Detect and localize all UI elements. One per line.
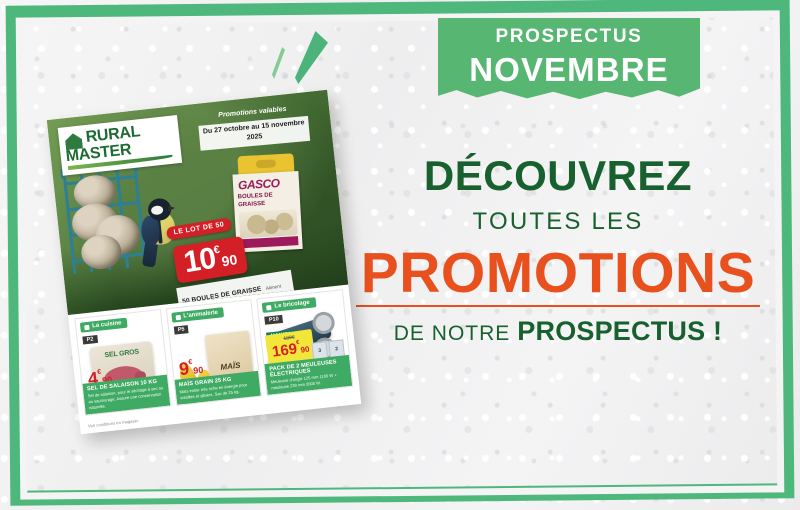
panel-page-bricolage: P10 [265, 315, 284, 325]
promo-banner: PROSPECTUS NOVEMBRE DÉCOUVREZ TOUTES LES… [0, 0, 800, 510]
banner-line-prospectus: PROSPECTUS [496, 27, 643, 46]
headline-last-line: DE NOTRE PROSPECTUS ! [352, 318, 764, 345]
product-panel-cuisine[interactable]: La cuisine P2 SEL GROS 10 kg 4€90 SEL DE… [74, 309, 171, 416]
salt-bag-top-label: SEL GROS [96, 348, 148, 361]
bird-feeder-cage [63, 169, 147, 274]
product-panel-bricolage[interactable]: Le bricolage P10 MAKITA 189€ 169€90 3 2 [257, 289, 354, 396]
headline-underline [356, 305, 760, 307]
cover-photograph: GASCO BOULES DE GRAISSE RURAL MASTER Pro… [47, 90, 349, 315]
panel-tag-cuisine: La cuisine [80, 318, 128, 333]
panel-page-cuisine: P2 [82, 335, 98, 345]
panel-price-dec-bricolage: 90 [300, 344, 310, 354]
headline-promotions-wrap: PROMOTIONS [352, 245, 764, 307]
validity-note: Promotions valables Du 27 octobre au 15 … [197, 103, 310, 151]
panel-tag-bricolage: Le bricolage [262, 297, 316, 313]
gasco-sub-label: BOULES DE GRAISSE [238, 190, 301, 210]
gasco-brand-label: GASCO [238, 176, 280, 192]
rural-master-logo: RURAL MASTER [58, 115, 182, 176]
panel-price-int-bricolage: 169 [271, 340, 298, 360]
banner-line-month: NOVEMBRE [469, 51, 669, 89]
panel-tag-animalerie: L'animalerie [171, 307, 225, 323]
hero-price-currency: € [213, 244, 221, 257]
headline-toutes-les: TOUTES LES [352, 210, 764, 234]
panel-page-animalerie: P5 [173, 325, 189, 335]
catalog-cover[interactable]: GASCO BOULES DE GRAISSE RURAL MASTER Pro… [47, 90, 361, 435]
headline-decouvrez: DÉCOUVREZ [352, 155, 764, 197]
headline-block: DÉCOUVREZ TOUTES LES PROMOTIONS DE NOTRE… [352, 155, 764, 345]
panel-price-animalerie: 9€90 [178, 358, 204, 378]
headline-de-notre: DE NOTRE [394, 322, 511, 345]
headline-prospectus: PROSPECTUS ! [517, 316, 722, 346]
prospectus-month-banner: PROSPECTUS NOVEMBRE [438, 18, 700, 100]
catalog-footnote: Voir conditions en magasin. [88, 418, 139, 429]
panel-price-dec-animalerie: 90 [193, 364, 204, 375]
headline-promotions: PROMOTIONS [352, 245, 764, 302]
hero-price-decimal: 90 [220, 251, 238, 269]
product-panel-animalerie[interactable]: L'animalerie P5 MAÏS 25 kg 9€90 [165, 299, 262, 406]
